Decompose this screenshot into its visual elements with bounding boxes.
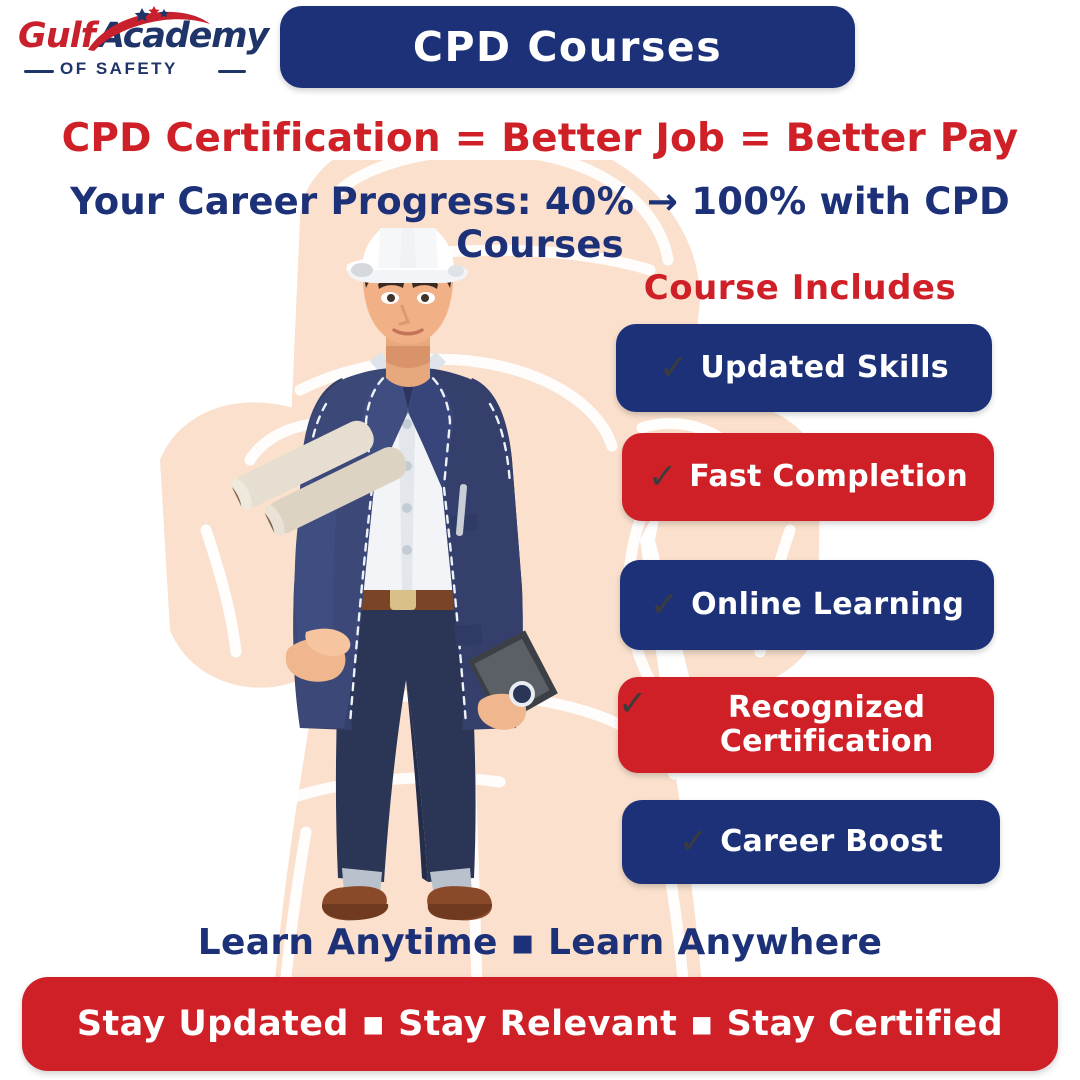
- benefit-pill-career-boost[interactable]: ✓ Career Boost: [622, 800, 1000, 884]
- page-title: CPD Courses: [413, 23, 722, 71]
- learn-anytime-anywhere-line: Learn Anytime ▪ Learn Anywhere: [0, 922, 1080, 963]
- benefit-pill-fast-completion[interactable]: ✓ Fast Completion: [622, 433, 994, 521]
- benefit-label: Recognized Certification: [659, 691, 994, 758]
- benefit-label: Fast Completion: [689, 460, 968, 494]
- tagline-primary: CPD Certification = Better Job = Better …: [0, 116, 1080, 161]
- benefit-label: Updated Skills: [700, 351, 949, 385]
- check-icon: ✓: [618, 687, 647, 722]
- logo-subtitle-row: OF SAFETY: [14, 59, 254, 81]
- benefit-label: Online Learning: [691, 588, 964, 622]
- check-icon: ✓: [679, 825, 708, 860]
- tagline-career-progress: Your Career Progress: 40% → 100% with CP…: [0, 180, 1080, 266]
- logo-wordmark: Gulf Academy: [14, 16, 254, 58]
- benefit-pill-recognized-certification[interactable]: ✓ Recognized Certification: [618, 677, 994, 773]
- brand-logo: Gulf Academy OF SAFETY: [14, 16, 254, 86]
- engineer-illustration: [222, 228, 592, 928]
- footer-text: Stay Updated ▪ Stay Relevant ▪ Stay Cert…: [77, 1004, 1003, 1044]
- check-icon: ✓: [648, 460, 677, 495]
- header-banner: CPD Courses: [280, 6, 855, 88]
- benefit-label: Career Boost: [720, 825, 943, 859]
- benefit-pill-updated-skills[interactable]: ✓ Updated Skills: [616, 324, 992, 412]
- check-icon: ✓: [650, 588, 679, 623]
- logo-swoosh-icon: [84, 6, 214, 52]
- benefit-pill-online-learning[interactable]: ✓ Online Learning: [620, 560, 994, 650]
- check-icon: ✓: [659, 351, 688, 386]
- logo-rule-left: [24, 70, 54, 73]
- logo-rule-right: [218, 70, 246, 73]
- course-includes-heading: Course Includes: [600, 268, 1000, 308]
- footer-banner: Stay Updated ▪ Stay Relevant ▪ Stay Cert…: [22, 977, 1058, 1071]
- logo-subtitle: OF SAFETY: [60, 59, 178, 79]
- cpd-courses-poster: Gulf Academy OF SAFETY CPD Courses CPD C…: [0, 0, 1080, 1080]
